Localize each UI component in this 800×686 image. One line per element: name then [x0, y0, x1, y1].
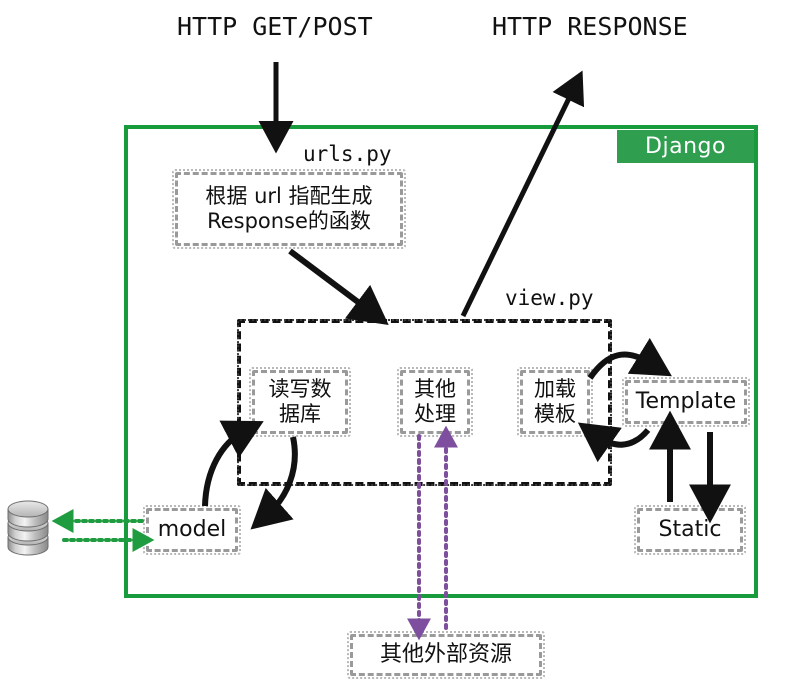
box-load-template-label: 加载 模板 [534, 377, 576, 427]
box-load-template: 加载 模板 [520, 370, 590, 434]
label-http-request: HTTP GET/POST [177, 12, 373, 41]
box-model-label: model [158, 517, 227, 543]
label-urls-py: urls.py [303, 142, 392, 166]
box-external-resources: 其他外部资源 [350, 634, 542, 676]
label-view-py: view.py [505, 286, 594, 310]
box-external-resources-label: 其他外部资源 [380, 642, 512, 668]
django-badge: Django [617, 130, 754, 163]
box-urls-handler-label: 根据 url 指配生成 Response的函数 [205, 184, 372, 234]
box-static-label: Static [659, 517, 722, 543]
box-template: Template [625, 380, 747, 424]
box-other-processing: 其他 处理 [400, 370, 470, 434]
box-urls-handler: 根据 url 指配生成 Response的函数 [175, 172, 403, 246]
diagram-canvas: HTTP GET/POST HTTP RESPONSE Django urls.… [0, 0, 800, 686]
database-cylinder-icon [5, 497, 51, 559]
box-db-access-label: 读写数 据库 [269, 377, 332, 427]
box-template-label: Template [636, 389, 736, 415]
box-other-processing-label: 其他 处理 [414, 377, 456, 427]
box-db-access: 读写数 据库 [252, 370, 348, 434]
box-model: model [146, 508, 238, 552]
box-static: Static [637, 508, 743, 552]
label-http-response: HTTP RESPONSE [492, 12, 688, 41]
